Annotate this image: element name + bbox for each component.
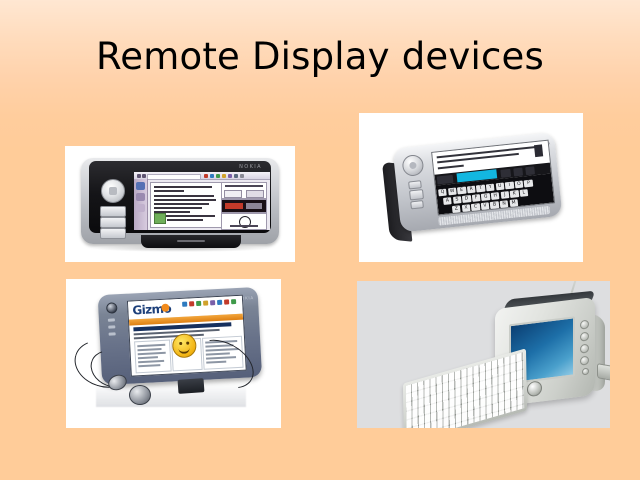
key-c[interactable]: C bbox=[471, 203, 480, 211]
hardware-button-1 bbox=[408, 180, 422, 189]
nav-icon bbox=[224, 299, 229, 304]
text-line bbox=[438, 165, 464, 170]
key-b[interactable]: B bbox=[490, 201, 499, 209]
text-line bbox=[138, 364, 160, 367]
hardware-button-2 bbox=[108, 325, 115, 328]
content-column-left bbox=[134, 340, 172, 374]
text-line bbox=[138, 356, 158, 359]
key-s[interactable]: S bbox=[452, 196, 461, 204]
symbols-button[interactable] bbox=[500, 168, 511, 177]
key-y[interactable]: Y bbox=[486, 183, 495, 191]
hardware-button-2 bbox=[100, 217, 126, 228]
settings-button[interactable] bbox=[513, 167, 523, 176]
key-t[interactable]: T bbox=[476, 184, 485, 192]
key-f[interactable]: F bbox=[472, 194, 481, 202]
camera-icon bbox=[106, 302, 118, 314]
page-title: Remote Display devices bbox=[0, 34, 640, 79]
tablet-screen: QWERTYUIOP ASDFGHJKL ZXCVBNM bbox=[431, 140, 555, 216]
photo-content-gizmo: NOKIA Gizmo bbox=[66, 279, 281, 428]
tablet-body: NOKIA bbox=[81, 158, 279, 244]
stop-icon bbox=[204, 174, 208, 178]
text-line bbox=[167, 219, 203, 221]
keyboard-keys bbox=[406, 352, 524, 428]
photo-content-nokia-n810: NOKIA bbox=[359, 113, 583, 262]
close-keyboard-button[interactable] bbox=[525, 166, 535, 175]
clock-label bbox=[230, 225, 258, 227]
files-app-icon bbox=[136, 204, 145, 212]
article-list-panel bbox=[150, 182, 222, 228]
key-i[interactable]: I bbox=[505, 181, 514, 189]
photo-content-industrial-terminal bbox=[357, 281, 610, 428]
detached-keyboard bbox=[403, 348, 527, 428]
nav-icon bbox=[203, 300, 208, 305]
text-line bbox=[154, 190, 184, 192]
headphone-plug bbox=[178, 378, 205, 394]
reload-icon bbox=[210, 174, 214, 178]
text-line bbox=[138, 360, 164, 363]
presentation-slide: Remote Display devices NOKIA bbox=[0, 0, 640, 480]
tablet-screen bbox=[134, 172, 270, 230]
photo-content-nokia-770-front: NOKIA bbox=[65, 146, 295, 262]
search-panel bbox=[221, 182, 267, 199]
key-d[interactable]: D bbox=[462, 195, 471, 203]
key-n[interactable]: N bbox=[500, 200, 509, 208]
banner-graphic bbox=[246, 203, 262, 209]
text-line bbox=[225, 185, 263, 187]
forward-icon bbox=[142, 174, 146, 178]
text-line bbox=[154, 199, 216, 201]
hardware-button-1 bbox=[108, 318, 115, 321]
key-j[interactable]: J bbox=[500, 191, 509, 199]
abc-button[interactable] bbox=[437, 174, 454, 184]
key-w[interactable]: W bbox=[448, 187, 457, 195]
nokia-logo: NOKIA bbox=[239, 164, 262, 170]
hardware-button-3 bbox=[100, 228, 126, 239]
key-g[interactable]: G bbox=[481, 193, 490, 201]
key-x[interactable]: X bbox=[461, 204, 470, 212]
nav-icon bbox=[196, 301, 201, 306]
clock-widget bbox=[221, 213, 267, 230]
earbud-icon bbox=[129, 385, 151, 405]
bookmark-icon bbox=[222, 174, 226, 178]
scrollbar[interactable] bbox=[534, 144, 543, 157]
fullscreen-icon bbox=[234, 174, 238, 178]
search-button bbox=[246, 190, 264, 198]
terminal-button-2 bbox=[580, 332, 589, 342]
smiley-eye bbox=[186, 342, 189, 345]
text-line bbox=[154, 195, 214, 197]
search-input bbox=[224, 190, 242, 198]
photo-nokia-770-front: NOKIA bbox=[65, 146, 295, 262]
tablet-body: NOKIA bbox=[393, 132, 563, 232]
nav-icon bbox=[189, 301, 194, 306]
text-line bbox=[154, 186, 212, 188]
nav-icon bbox=[210, 300, 215, 305]
nav-icon bbox=[217, 300, 222, 305]
settings-icon bbox=[228, 174, 232, 178]
key-v[interactable]: V bbox=[480, 202, 489, 210]
text-line bbox=[137, 344, 165, 347]
key-u[interactable]: U bbox=[495, 182, 504, 190]
key-l[interactable]: L bbox=[519, 189, 528, 197]
close-icon bbox=[240, 174, 244, 178]
smiley-eye bbox=[179, 342, 182, 345]
dpad-icon bbox=[101, 179, 125, 203]
banner-ad bbox=[221, 199, 267, 213]
browser-toolbar bbox=[134, 172, 270, 180]
hardware-button-2 bbox=[409, 189, 424, 200]
key-m[interactable]: M bbox=[509, 199, 518, 207]
text-line bbox=[138, 352, 166, 355]
home-icon bbox=[216, 174, 220, 178]
hardware-button-3 bbox=[109, 332, 116, 335]
key-r[interactable]: R bbox=[467, 185, 476, 193]
key-p[interactable]: P bbox=[524, 179, 533, 187]
tablet-assembly: NOKIA bbox=[379, 132, 564, 242]
nav-icon bbox=[231, 299, 236, 304]
key-a[interactable]: A bbox=[443, 197, 452, 205]
text-line bbox=[137, 348, 161, 351]
hardware-button-1 bbox=[100, 206, 126, 217]
tablet-base-connector bbox=[141, 235, 241, 248]
checkbox-icon bbox=[154, 213, 166, 224]
banner-graphic bbox=[225, 203, 243, 209]
photo-nokia-gizmo-headphones: NOKIA Gizmo bbox=[66, 279, 281, 428]
nav-icon bbox=[182, 302, 187, 307]
dpad-icon bbox=[401, 154, 424, 177]
hardware-button-3 bbox=[410, 200, 424, 209]
photo-industrial-terminal bbox=[357, 281, 610, 428]
text-line bbox=[154, 207, 202, 209]
key-e[interactable]: E bbox=[457, 186, 466, 194]
mail-app-icon bbox=[136, 193, 145, 201]
key-q[interactable]: Q bbox=[438, 188, 447, 196]
address-bar bbox=[147, 174, 201, 180]
photo-nokia-n810-keyboard: NOKIA bbox=[359, 113, 583, 262]
key-z[interactable]: Z bbox=[452, 205, 461, 213]
terminal-button-4 bbox=[580, 356, 589, 366]
terminal-button-3 bbox=[580, 344, 589, 354]
key-k[interactable]: K bbox=[510, 190, 519, 198]
rotary-knob-icon bbox=[527, 380, 542, 397]
terminal-button-1 bbox=[580, 320, 589, 330]
key-h[interactable]: H bbox=[491, 192, 500, 200]
app-sidebar bbox=[134, 179, 148, 230]
terminal-led bbox=[582, 368, 589, 376]
text-line bbox=[154, 203, 209, 205]
smiley-mouth bbox=[178, 347, 189, 355]
key-o[interactable]: O bbox=[514, 180, 523, 188]
tablet-bezel: NOKIA bbox=[89, 161, 271, 233]
browser-app-icon bbox=[136, 182, 145, 190]
back-icon bbox=[137, 174, 141, 178]
